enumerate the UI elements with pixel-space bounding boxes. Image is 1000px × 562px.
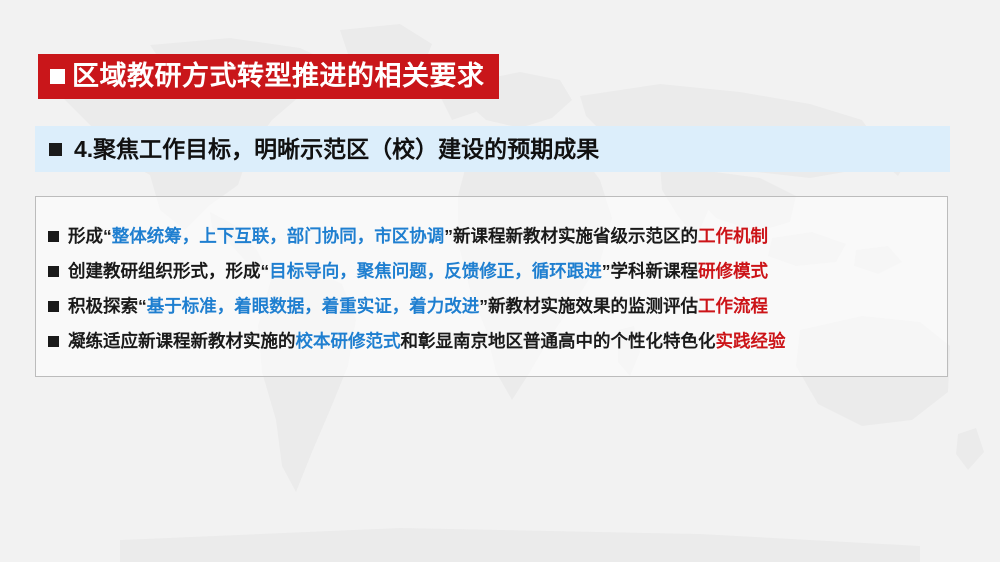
square-marker-icon <box>48 336 59 347</box>
text-run-black: 和彰显南京地区普通高中的个性化特色化 <box>401 331 716 351</box>
content-box: 形成“整体统筹，上下互联，部门协同，市区协调”新课程新教材实施省级示范区的工作机… <box>35 196 948 377</box>
text-run-red: 预期成果 <box>507 136 599 162</box>
text-run-black: 创建教研组织形式，形成“ <box>68 261 269 281</box>
text-run-black: ”学科新课程 <box>602 261 698 281</box>
text-run-red: 工作流程 <box>698 296 768 316</box>
text-run-black: ”新教材实施效果的监测评估 <box>479 296 698 316</box>
text-run-black: 形成“ <box>68 226 112 246</box>
text-run-black: 凝练适应新课程新教材实施的 <box>68 331 296 351</box>
bullet-row: 创建教研组织形式，形成“目标导向，聚焦问题，反馈修正，循环跟进”学科新课程研修模… <box>36 254 947 289</box>
text-run-red: 实践经验 <box>716 331 786 351</box>
bullet-row: 积极探索“基于标准，着眼数据，着重实证，着力改进”新教材实施效果的监测评估工作流… <box>36 289 947 324</box>
text-run-black: ”新课程新教材实施省级示范区的 <box>444 226 698 246</box>
bullet-row: 凝练适应新课程新教材实施的校本研修范式和彰显南京地区普通高中的个性化特色化实践经… <box>36 324 947 359</box>
square-marker-icon <box>48 266 59 277</box>
bullet-text: 积极探索“基于标准，着眼数据，着重实证，着力改进”新教材实施效果的监测评估工作流… <box>68 298 768 316</box>
text-run-blue: 目标导向，聚焦问题，反馈修正，循环跟进 <box>269 261 602 281</box>
square-marker-icon <box>49 143 62 156</box>
text-run-red: 工作机制 <box>698 226 768 246</box>
slide-title-text: 区域教研方式转型推进的相关要求 <box>72 63 485 90</box>
text-run-black: 积极探索“ <box>68 296 147 316</box>
text-run-blue: 基于标准，着眼数据，着重实证，着力改进 <box>147 296 480 316</box>
bullet-row: 形成“整体统筹，上下互联，部门协同，市区协调”新课程新教材实施省级示范区的工作机… <box>36 219 947 254</box>
bullet-text: 形成“整体统筹，上下互联，部门协同，市区协调”新课程新教材实施省级示范区的工作机… <box>68 228 768 246</box>
square-marker-icon <box>50 69 65 84</box>
text-run-blue: 整体统筹，上下互联，部门协同，市区协调 <box>112 226 445 246</box>
subtitle-text: 4.聚焦工作目标，明晰示范区（校）建设的预期成果 <box>74 138 599 161</box>
bullet-text: 凝练适应新课程新教材实施的校本研修范式和彰显南京地区普通高中的个性化特色化实践经… <box>68 333 786 351</box>
slide-canvas: 区域教研方式转型推进的相关要求 4.聚焦工作目标，明晰示范区（校）建设的预期成果… <box>0 0 1000 562</box>
text-run-black: 4.聚焦工作目标，明晰示范区（校）建设的 <box>74 136 507 162</box>
bullet-text: 创建教研组织形式，形成“目标导向，聚焦问题，反馈修正，循环跟进”学科新课程研修模… <box>68 263 768 281</box>
slide-title-bar: 区域教研方式转型推进的相关要求 <box>38 54 499 99</box>
subtitle-band: 4.聚焦工作目标，明晰示范区（校）建设的预期成果 <box>35 126 950 172</box>
square-marker-icon <box>48 231 59 242</box>
square-marker-icon <box>48 301 59 312</box>
text-run-blue: 校本研修范式 <box>296 331 401 351</box>
text-run-red: 研修模式 <box>698 261 768 281</box>
